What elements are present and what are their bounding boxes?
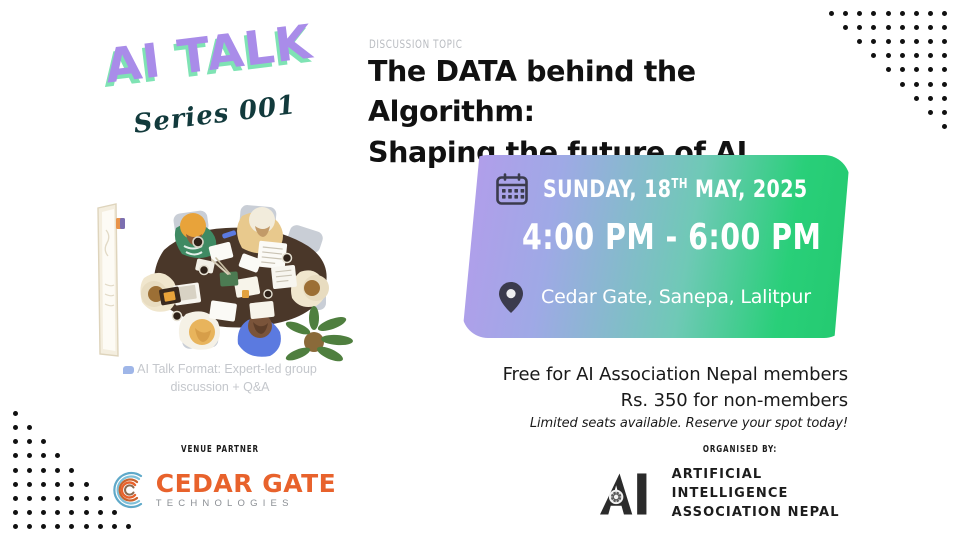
event-details-card: SUNDAY, 18TH MAY, 2025 4:00 PM - 6:00 PM… <box>462 155 850 338</box>
event-date-ordinal: TH <box>671 177 688 192</box>
left-column: AI TALK Series 001 <box>0 0 360 540</box>
meeting-illustration-svg <box>92 198 354 363</box>
ai-association-logo: ARTIFICIAL INTELLIGENCE ASSOCIATION NEPA… <box>600 466 880 523</box>
cedar-gate-logo: CEDAR GATE TECHNOLOGIES <box>60 467 380 513</box>
organiser-name-line1: ARTIFICIAL INTELLIGENCE <box>672 466 880 504</box>
dot-row <box>824 20 952 34</box>
event-venue: Cedar Gate, Sanepa, Lalitpur <box>541 286 811 308</box>
venue-partner-block: VENUE PARTNER CEDAR GATE TECHNOLOGIES <box>60 444 380 513</box>
event-time: 4:00 PM - 6:00 PM <box>522 217 821 258</box>
ai-talk-logo-series: Series 001 <box>132 90 298 140</box>
speech-bubble-icon <box>123 366 134 374</box>
pricing-members: Free for AI Association Nepal members <box>428 362 848 388</box>
event-date: SUNDAY, 18TH MAY, 2025 <box>543 175 808 203</box>
dot-row <box>824 34 952 48</box>
discussion-topic-kicker: DISCUSSION TOPIC <box>369 37 462 51</box>
meeting-table-illustration <box>92 198 354 363</box>
whiteboard-icon <box>98 204 125 356</box>
ai-talk-logo-title: AI TALK <box>102 15 316 95</box>
format-caption-line2: discussion + Q&A <box>170 380 269 394</box>
event-date-suffix: MAY, 2025 <box>688 175 808 203</box>
pricing-note: Limited seats available. Reserve your sp… <box>428 416 848 431</box>
event-date-prefix: SUNDAY, 18 <box>543 175 671 203</box>
event-date-row: SUNDAY, 18TH MAY, 2025 <box>494 171 844 207</box>
venue-partner-kicker: VENUE PARTNER <box>92 444 348 455</box>
dot-row <box>824 6 952 20</box>
event-venue-row: Cedar Gate, Sanepa, Lalitpur <box>494 279 811 315</box>
pricing-block: Free for AI Association Nepal members Rs… <box>428 362 848 431</box>
organiser-name-line2: ASSOCIATION NEPAL <box>672 504 880 523</box>
title-line-1: The DATA behind the Algorithm: <box>368 52 868 133</box>
format-caption-line1: AI Talk Format: Expert-led group <box>137 362 317 376</box>
cedar-gate-name: CEDAR GATE <box>156 471 337 496</box>
cedar-gate-swirl-icon <box>104 467 150 513</box>
event-poster: AI TALK Series 001 <box>0 0 960 540</box>
format-caption: AI Talk Format: Expert-led group discuss… <box>70 360 370 396</box>
calendar-icon <box>494 171 530 207</box>
pricing-non-members: Rs. 350 for non-members <box>428 388 848 414</box>
ai-talk-logo: AI TALK Series 001 <box>96 34 296 159</box>
cedar-gate-subtitle: TECHNOLOGIES <box>156 499 337 509</box>
event-time-row: 4:00 PM - 6:00 PM <box>522 217 862 258</box>
ai-monogram-icon <box>600 471 661 517</box>
location-pin-icon <box>494 279 528 315</box>
organiser-block: ORGANISED BY: ARTIFICIA <box>600 444 880 523</box>
organiser-kicker: ORGANISED BY: <box>628 444 852 455</box>
